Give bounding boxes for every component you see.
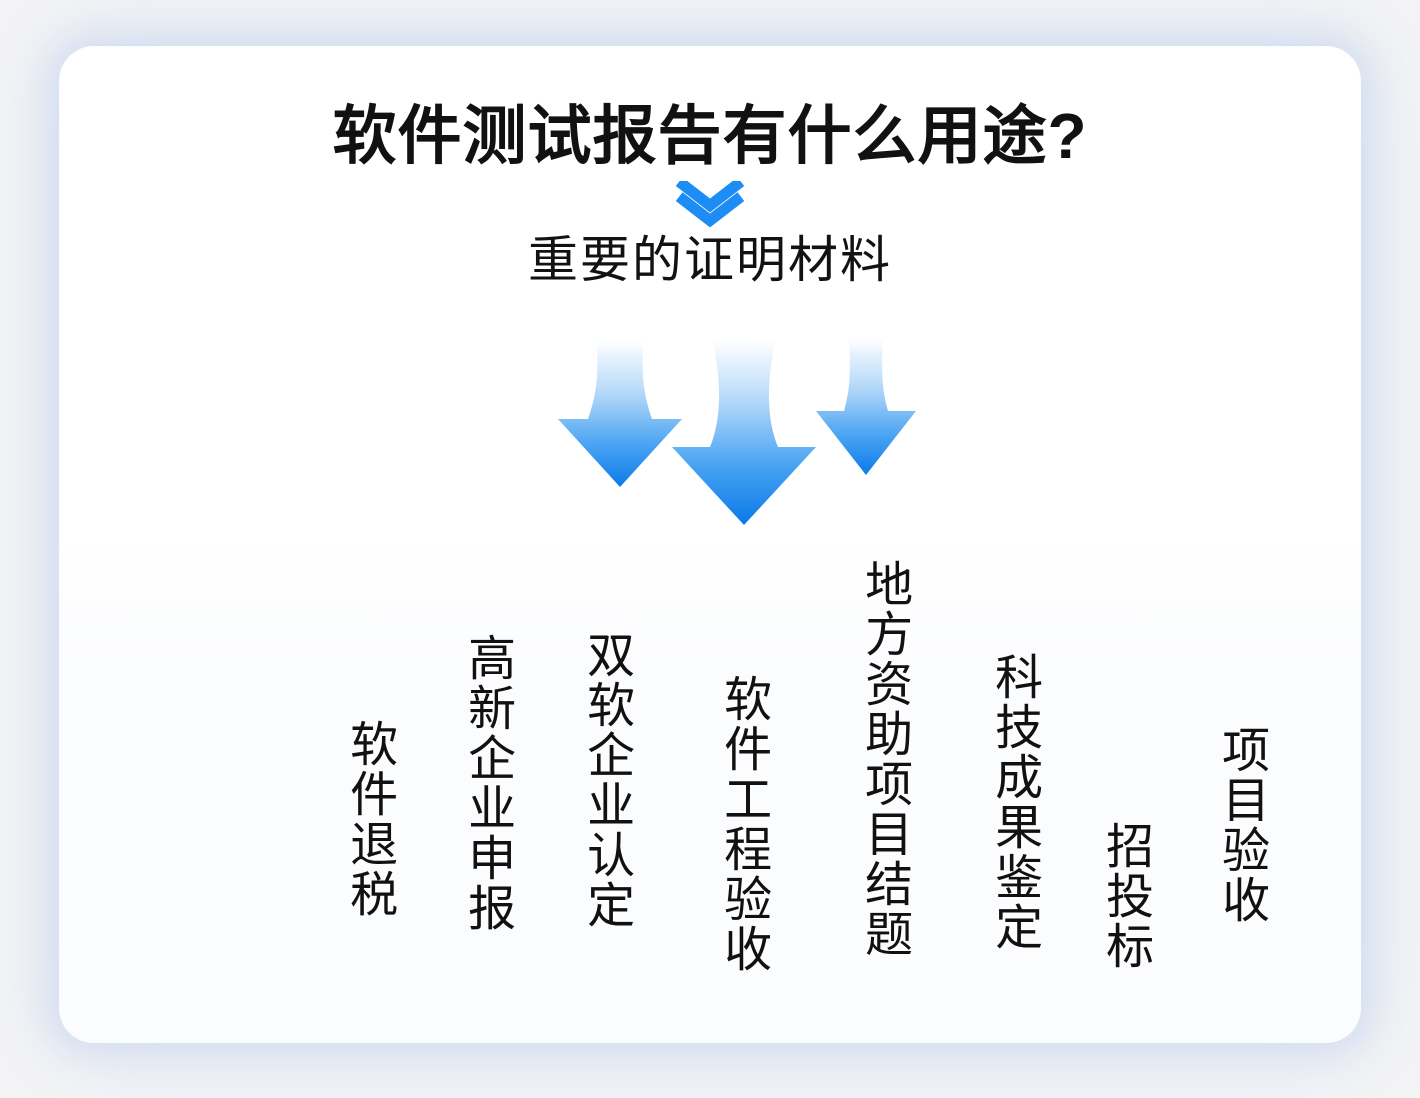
- use-label-software-tax-refund[interactable]: 软件退税: [334, 719, 402, 919]
- use-case-labels: 软件退税 高新企业申报 双软企业认定 软件工程验收 地方资助项目结题 科技成果鉴…: [60, 47, 1360, 1042]
- use-label-bidding[interactable]: 招投标: [1090, 821, 1158, 971]
- infographic-canvas: 软件测试报告有什么用途? 重要的证明材料: [0, 0, 1420, 1098]
- use-label-dual-soft-certification[interactable]: 双软企业认定: [571, 630, 639, 930]
- use-label-hightech-enterprise[interactable]: 高新企业申报: [452, 633, 520, 933]
- content-card: 软件测试报告有什么用途? 重要的证明材料: [60, 47, 1360, 1042]
- use-label-software-eng-acceptance[interactable]: 软件工程验收: [708, 674, 776, 974]
- use-label-sci-tech-appraisal[interactable]: 科技成果鉴定: [979, 652, 1047, 952]
- use-label-local-funded-project[interactable]: 地方资助项目结题: [849, 559, 917, 959]
- use-label-project-acceptance[interactable]: 项目验收: [1206, 725, 1274, 925]
